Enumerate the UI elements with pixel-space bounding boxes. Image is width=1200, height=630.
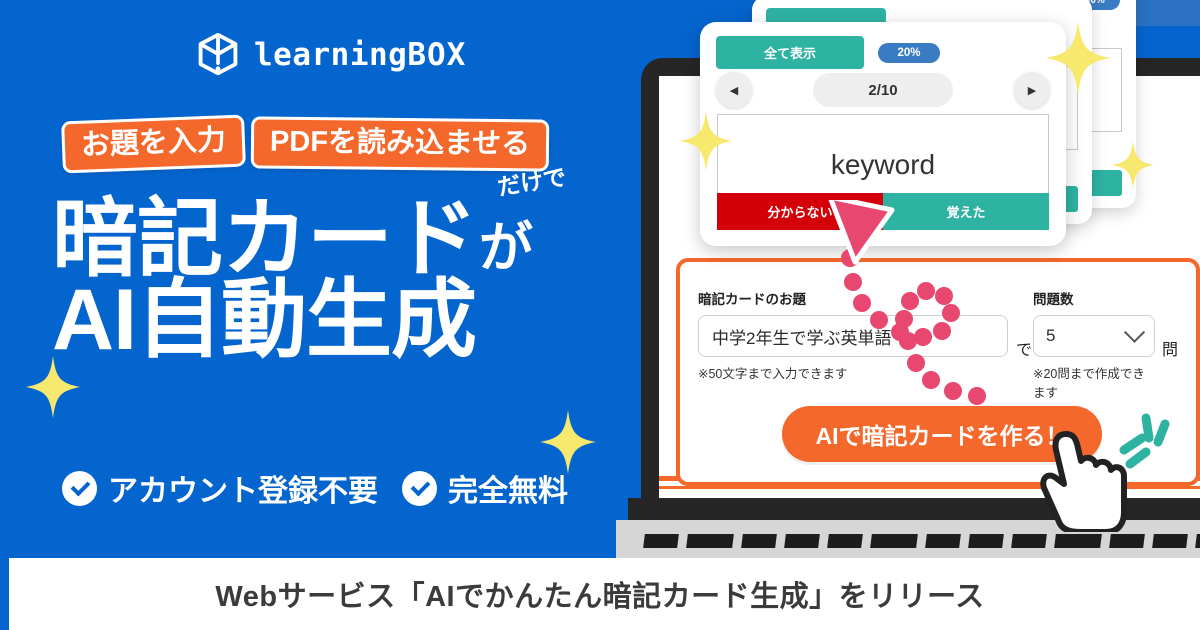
cube-box-icon bbox=[196, 32, 240, 78]
chevron-down-icon bbox=[1124, 321, 1145, 342]
sparkle-star-icon bbox=[1046, 20, 1110, 96]
keyboard-key bbox=[784, 534, 820, 548]
separator-mon: 問 bbox=[1162, 336, 1178, 360]
chevron-left-icon[interactable]: ◀ bbox=[716, 72, 752, 108]
card-counter: 2/10 bbox=[813, 73, 953, 107]
brand-logo: learningBOX bbox=[196, 32, 466, 78]
sparkle-star-icon bbox=[540, 410, 596, 474]
flashcard-navigation: ◀ 2/10 ▶ bbox=[716, 72, 1050, 108]
keyboard-key bbox=[686, 534, 734, 548]
count-hint: ※20問まで作成できます bbox=[1033, 363, 1155, 401]
count-select[interactable]: 5 bbox=[1033, 315, 1155, 357]
headline-line-1: 暗記カード が bbox=[52, 198, 533, 281]
page-title: 暗記カード が AI自動生成 bbox=[52, 198, 533, 361]
keyboard-key bbox=[741, 534, 777, 548]
footer-text: Webサービス「AIでかんたん暗記カード生成」をリリース bbox=[0, 558, 1200, 630]
count-value: 5 bbox=[1046, 326, 1055, 346]
keyboard-key bbox=[1011, 534, 1047, 548]
check-circle-icon bbox=[402, 471, 437, 506]
feature-label: アカウント登録不要 bbox=[108, 466, 378, 510]
badge-load-pdf: PDFを読み込ませる bbox=[251, 116, 550, 172]
laptop-keyboard bbox=[644, 534, 1200, 548]
keyboard-key bbox=[643, 534, 679, 548]
count-field-group: 問題数 5 ※20問まで作成できます bbox=[1033, 288, 1155, 401]
keyboard-key bbox=[870, 534, 918, 548]
dotted-curved-arrow-icon bbox=[820, 200, 1040, 410]
feature-label: 完全無料 bbox=[448, 466, 568, 510]
count-label: 問題数 bbox=[1033, 288, 1155, 308]
progress-badge: 20% bbox=[878, 43, 940, 63]
keyboard-key bbox=[1054, 534, 1102, 548]
feature-free: 完全無料 bbox=[402, 466, 568, 510]
keyboard-key bbox=[1152, 534, 1188, 548]
hand-pointer-cursor-icon bbox=[1040, 428, 1132, 532]
brand-name: learningBOX bbox=[254, 37, 466, 73]
brand-name-part2: BOX bbox=[407, 37, 466, 73]
feature-no-account: アカウント登録不要 bbox=[62, 466, 378, 510]
sparkle-star-icon bbox=[1112, 140, 1154, 190]
feature-list: アカウント登録不要 完全無料 bbox=[62, 466, 568, 510]
keyboard-key bbox=[925, 534, 961, 548]
headline-line-2: AI自動生成 bbox=[52, 279, 533, 362]
keyboard-key bbox=[968, 534, 1004, 548]
flashcard-toolbar: 全て表示 20% bbox=[716, 36, 1050, 69]
brand-name-part1: learning bbox=[254, 37, 407, 73]
sparkle-star-icon bbox=[26, 356, 80, 418]
chevron-right-icon[interactable]: ▶ bbox=[1014, 72, 1050, 108]
keyboard-key bbox=[1109, 534, 1145, 548]
check-circle-icon bbox=[62, 471, 97, 506]
headline-main-1: 暗記カード bbox=[52, 198, 477, 281]
badge-input-topic: お題を入力 bbox=[61, 115, 246, 174]
sparkle-star-icon bbox=[680, 110, 732, 172]
promo-banner: learningBOX お題を入力 PDFを読み込ませる だけで 暗記カード が… bbox=[0, 0, 1200, 630]
flashcard-keyword: keyword bbox=[831, 149, 935, 181]
keyboard-key bbox=[1195, 534, 1200, 548]
hero-badges: お題を入力 PDFを読み込ませる bbox=[62, 118, 549, 170]
show-all-button[interactable]: 全て表示 bbox=[716, 36, 864, 69]
headline-particle: が bbox=[479, 223, 533, 281]
keyboard-key bbox=[827, 534, 863, 548]
headline-main-2: AI自動生成 bbox=[52, 279, 476, 362]
